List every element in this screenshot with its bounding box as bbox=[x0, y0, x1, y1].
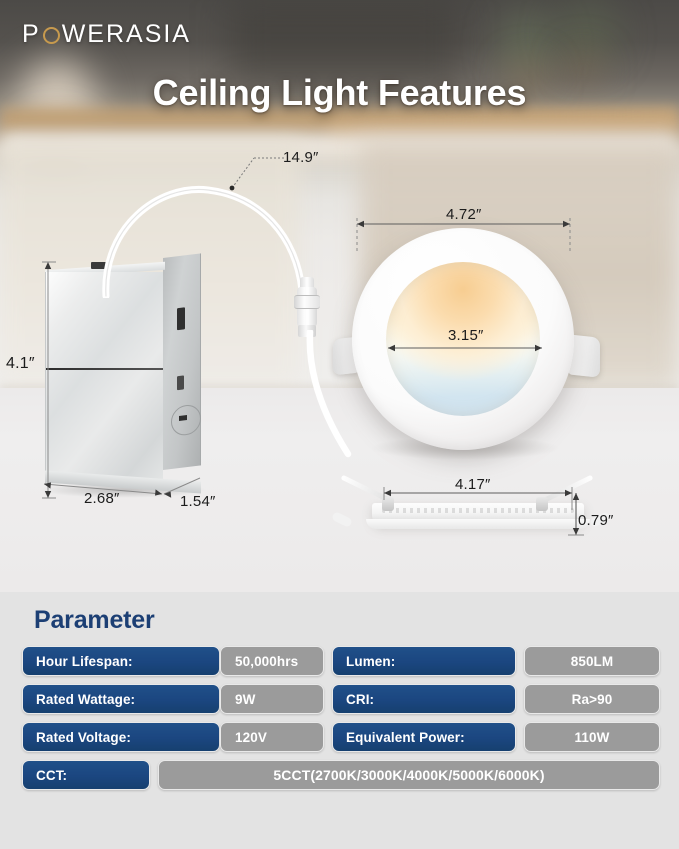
param-label-cct: CCT: bbox=[22, 760, 150, 790]
table-row: Rated Wattage: 9W CRI: Ra>90 bbox=[22, 684, 660, 714]
junction-box-knockout-tab bbox=[179, 415, 187, 421]
page-title: Ceiling Light Features bbox=[0, 72, 679, 114]
param-value-rated-voltage: 120V bbox=[220, 722, 324, 752]
connector-ring bbox=[294, 295, 320, 309]
profile-trim-lip bbox=[366, 519, 590, 529]
param-label-hour-lifespan: Hour Lifespan: bbox=[22, 646, 220, 676]
dimension-cable-length: 14.9″ bbox=[283, 149, 319, 166]
junction-box-slot-secondary bbox=[177, 375, 184, 390]
junction-box-slot bbox=[177, 307, 185, 330]
param-label-equivalent-power: Equivalent Power: bbox=[332, 722, 516, 752]
dimension-profile-width: 4.17″ bbox=[455, 476, 491, 493]
logo-text-after: WERASIA bbox=[62, 22, 191, 47]
param-value-cct: 5CCT(2700K/3000K/4000K/5000K/6000K) bbox=[158, 760, 660, 790]
param-value-lumen: 850LM bbox=[524, 646, 660, 676]
dimension-box-height: 4.1″ bbox=[6, 355, 35, 373]
parameter-table: Hour Lifespan: 50,000hrs Lumen: 850LM Ra… bbox=[22, 646, 660, 798]
parameter-panel: Parameter Hour Lifespan: 50,000hrs Lumen… bbox=[0, 592, 679, 849]
dimension-outer-diameter: 4.72″ bbox=[446, 206, 482, 223]
param-label-rated-wattage: Rated Wattage: bbox=[22, 684, 220, 714]
logo-gold-o-icon bbox=[43, 27, 60, 44]
param-value-rated-wattage: 9W bbox=[220, 684, 324, 714]
hero-photo-section: P WERASIA Ceiling Light Features bbox=[0, 0, 679, 592]
dimension-box-depth: 1.54″ bbox=[180, 493, 216, 510]
spring-bracket-right bbox=[536, 497, 548, 511]
junction-box-front-face bbox=[45, 272, 163, 484]
dimension-profile-height: 0.79″ bbox=[578, 512, 614, 529]
dimension-box-width: 2.68″ bbox=[84, 490, 120, 507]
param-label-lumen: Lumen: bbox=[332, 646, 516, 676]
table-row: CCT: 5CCT(2700K/3000K/4000K/5000K/6000K) bbox=[22, 760, 660, 790]
spring-bracket-left bbox=[382, 497, 394, 511]
product-infographic: P WERASIA Ceiling Light Features bbox=[0, 0, 679, 849]
dimension-lens-diameter: 3.15″ bbox=[448, 327, 484, 344]
table-row: Rated Voltage: 120V Equivalent Power: 11… bbox=[22, 722, 660, 752]
parameter-heading: Parameter bbox=[34, 606, 155, 635]
spring-foot-left bbox=[331, 511, 353, 528]
param-value-equivalent-power: 110W bbox=[524, 722, 660, 752]
table-row: Hour Lifespan: 50,000hrs Lumen: 850LM bbox=[22, 646, 660, 676]
param-value-hour-lifespan: 50,000hrs bbox=[220, 646, 324, 676]
param-label-rated-voltage: Rated Voltage: bbox=[22, 722, 220, 752]
brand-logo: P WERASIA bbox=[22, 22, 191, 47]
param-label-cri: CRI: bbox=[332, 684, 516, 714]
param-value-cri: Ra>90 bbox=[524, 684, 660, 714]
logo-text-before: P bbox=[22, 22, 41, 47]
